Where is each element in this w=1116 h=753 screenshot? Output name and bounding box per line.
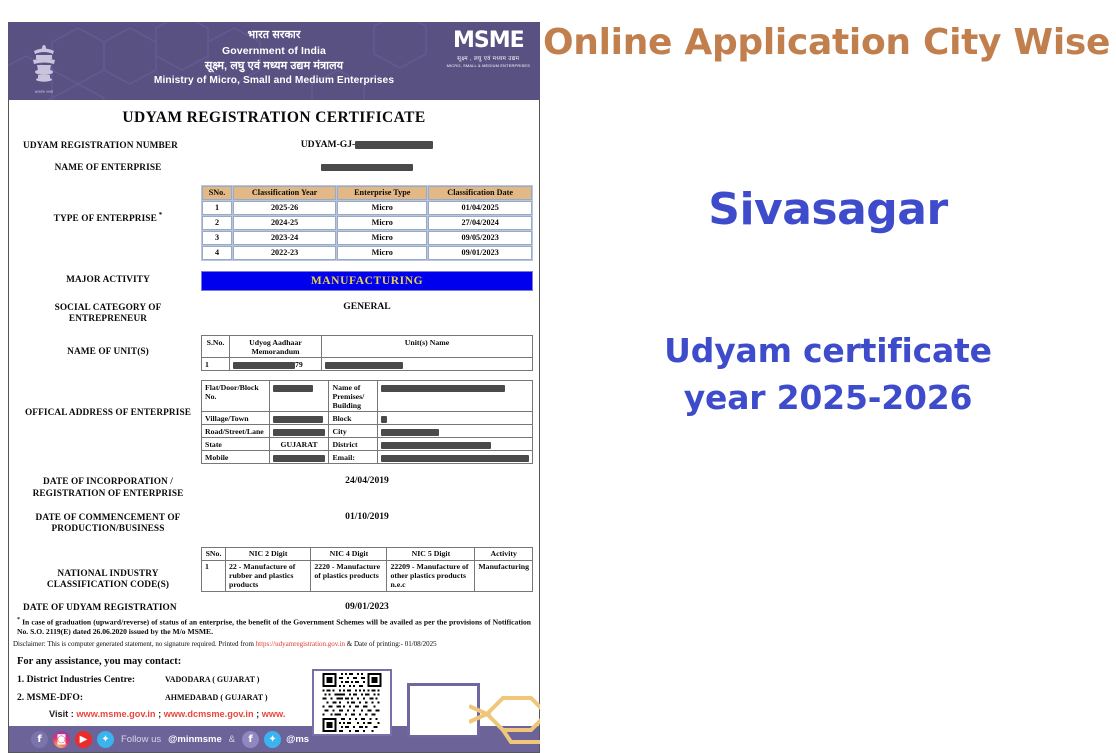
table-row: 1 22 - Manufacture of rubber and plastic… [202, 560, 533, 591]
msme-logo-mark: MSME [447, 30, 530, 52]
cell-sno: 3 [202, 231, 232, 245]
cell-uam-tail: 79 [295, 360, 303, 369]
table-row: Flat/Door/Block No. Name of Premises/ Bu… [202, 381, 533, 412]
addr-value-district [378, 438, 533, 451]
major-activity-label: MAJOR ACTIVITY [15, 271, 201, 286]
table-row: 3 2023-24 Micro 09/05/2023 [202, 231, 532, 245]
col-uam: Udyog Aadhaar Memorandum [230, 336, 322, 358]
promo-city-name: Sivasagar [540, 184, 1116, 235]
addr-value-city [378, 425, 533, 438]
date-commencement-row: DATE OF COMMENCEMENT OFPRODUCTION/BUSINE… [9, 511, 539, 536]
visit-sep-1: ; [156, 709, 164, 719]
redacted-uam [233, 362, 295, 369]
cell-year: 2022-23 [233, 246, 336, 260]
date-commencement-value: 01/10/2019 [201, 511, 533, 522]
asterisk-marker: * [17, 617, 20, 623]
date-udyam-registration-value: 09/01/2023 [201, 601, 533, 612]
social-category-label: SOCIAL CATEGORY OFENTREPRENEUR [15, 301, 201, 326]
follow-us-text: Follow us [121, 734, 161, 745]
name-of-units-row: NAME OF UNIT(S) S.No. Udyog Aadhaar Memo… [9, 335, 539, 371]
addr-label-email: Email: [329, 451, 378, 464]
table-row: Mobile Email: [202, 451, 533, 464]
addr-value-mobile [269, 451, 329, 464]
qr-code-pattern [316, 673, 388, 732]
redacted-premises [381, 385, 505, 392]
enterprise-name-value [201, 161, 533, 172]
addr-label-state: State [202, 438, 270, 451]
table-row: State GUJARAT District [202, 438, 533, 451]
addr-label-road: Road/Street/Lane [202, 425, 270, 438]
promo-title: Online Application City Wise [543, 22, 1116, 63]
cell-nic5: 22209 - Manufacture of other plastics pr… [387, 560, 475, 591]
redacted-city [381, 429, 439, 436]
addr-label-city: City [329, 425, 378, 438]
major-activity-banner: MANUFACTURING [201, 271, 533, 291]
nic-table: SNo. NIC 2 Digit NIC 4 Digit NIC 5 Digit… [201, 547, 533, 592]
contact-dic: 1. District Industries Centre: VADODARA … [9, 667, 539, 685]
facebook-icon[interactable]: f [31, 731, 48, 748]
col-enterprise-type: Enterprise Type [337, 186, 427, 200]
col-nic5: NIC 5 Digit [387, 547, 475, 560]
udyam-number-prefix: UDYAM-GJ- [301, 139, 356, 150]
redacted-unit-name [325, 362, 403, 369]
addr-label-district: District [329, 438, 378, 451]
hexagon-decoration-bottom [469, 684, 543, 744]
date-udyam-registration-label: DATE OF UDYAM REGISTRATION [15, 601, 201, 614]
col-classification-year: Classification Year [233, 186, 336, 200]
redacted-email [381, 455, 529, 462]
units-table: S.No. Udyog Aadhaar Memorandum Unit(s) N… [201, 335, 533, 371]
graduation-footnote: * In case of graduation (upward/reverse)… [9, 614, 539, 637]
msme-logo-hindi: सूक्ष्म , लघु एवं मध्यम उद्यम [447, 54, 530, 62]
table-header-row: SNo. NIC 2 Digit NIC 4 Digit NIC 5 Digit… [202, 547, 533, 560]
date-commencement-label: DATE OF COMMENCEMENT OFPRODUCTION/BUSINE… [15, 511, 201, 536]
disclaimer-suffix: & Date of printing:- 01/08/2025 [345, 640, 437, 648]
addr-label-premises: Name of Premises/ Building [329, 381, 378, 412]
type-of-enterprise-label: TYPE OF ENTERPRISE * [15, 185, 201, 225]
cell-nic2: 22 - Manufacture of rubber and plastics … [226, 560, 311, 591]
qr-code [312, 669, 392, 736]
visit-url-third[interactable]: www. [262, 709, 286, 719]
assistance-heading: For any assistance, you may contact: [9, 649, 539, 667]
cell-type: Micro [337, 231, 427, 245]
certificate-body: UDYAM REGISTRATION CERTIFICATE UDYAM REG… [8, 100, 540, 753]
major-activity-row: MAJOR ACTIVITY MANUFACTURING [9, 271, 539, 291]
cell-sno: 2 [202, 216, 232, 230]
cell-sno: 1 [202, 358, 230, 371]
addr-value-flat [269, 381, 329, 412]
ampersand-text: & [229, 734, 235, 745]
redacted-enterprise-name [321, 164, 413, 171]
udyam-number-row: UDYAM REGISTRATION NUMBER UDYAM-GJ- [9, 139, 539, 152]
cell-year: 2023-24 [233, 231, 336, 245]
enterprise-name-label: NAME OF ENTERPRISE [15, 161, 201, 174]
redacted-udyam-number [355, 141, 433, 149]
graduation-footnote-text: In case of graduation (upward/reverse) o… [17, 617, 531, 636]
contact-dic-value: VADODARA ( GUJARAT ) [165, 674, 259, 685]
table-row: 1 79 [202, 358, 533, 371]
cell-sno: 4 [202, 246, 232, 260]
addr-value-road [269, 425, 329, 438]
contact-dic-label: 1. District Industries Centre: [17, 674, 165, 685]
addr-label-flat: Flat/Door/Block No. [202, 381, 270, 412]
promo-subtitle-line2: year 2025-2026 [540, 375, 1116, 422]
cell-year: 2024-25 [233, 216, 336, 230]
col-sno: S.No. [202, 336, 230, 358]
addr-label-block: Block [329, 412, 378, 425]
nic-code-label: NATIONAL INDUSTRYCLASSIFICATION CODE(S) [15, 547, 201, 592]
col-unit-name: Unit(s) Name [322, 336, 533, 358]
address-table: Flat/Door/Block No. Name of Premises/ Bu… [201, 380, 533, 464]
enterprise-name-row: NAME OF ENTERPRISE [9, 161, 539, 174]
contact-dfo-value: AHMEDABAD ( GUJARAT ) [165, 692, 268, 703]
cell-type: Micro [337, 201, 427, 215]
type-of-enterprise-row: TYPE OF ENTERPRISE * SNo. Classification… [9, 185, 539, 261]
col-nic4: NIC 4 Digit [311, 547, 387, 560]
addr-value-email [378, 451, 533, 464]
promo-subtitle-line1: Udyam certificate [540, 328, 1116, 375]
facebook-icon-2[interactable]: f [242, 731, 259, 748]
cell-date: 27/04/2024 [428, 216, 532, 230]
addr-value-state: GUJARAT [269, 438, 329, 451]
date-incorporation-row: DATE OF INCORPORATION /REGISTRATION OF E… [9, 475, 539, 500]
ministry-english: Ministry of Micro, Small and Medium Ente… [8, 74, 540, 88]
type-of-enterprise-table-wrap: SNo. Classification Year Enterprise Type… [201, 185, 533, 261]
msme-logo-english: MICRO, SMALL & MEDIUM ENTERPRISES [447, 63, 530, 68]
cell-unit-name [322, 358, 533, 371]
table-row: Road/Street/Lane City [202, 425, 533, 438]
twitter-icon-2[interactable]: ✦ [264, 731, 281, 748]
cell-year: 2025-26 [233, 201, 336, 215]
visit-url-msme[interactable]: www.msme.gov.in [76, 709, 155, 719]
table-header-row: S.No. Udyog Aadhaar Memorandum Unit(s) N… [202, 336, 533, 358]
redacted-road [273, 429, 325, 436]
cell-date: 09/05/2023 [428, 231, 532, 245]
disclaimer-prefix: Disclaimer: This is computer generated s… [13, 640, 256, 648]
name-of-units-label: NAME OF UNIT(S) [15, 335, 201, 358]
redacted-block [381, 416, 387, 423]
visit-prefix: Visit : [49, 709, 76, 719]
date-incorporation-label: DATE OF INCORPORATION /REGISTRATION OF E… [15, 475, 201, 500]
addr-value-premises [378, 381, 533, 412]
cell-type: Micro [337, 246, 427, 260]
nic-table-wrap: SNo. NIC 2 Digit NIC 4 Digit NIC 5 Digit… [201, 547, 533, 592]
date-incorporation-value: 24/04/2019 [201, 475, 533, 486]
cell-type: Micro [337, 216, 427, 230]
visit-sep-2: ; [254, 709, 262, 719]
major-activity-value-wrap: MANUFACTURING [201, 271, 533, 291]
udyam-number-value: UDYAM-GJ- [201, 139, 533, 150]
certificate-header-banner: सत्यमेव जयते भारत सरकार Government of In… [8, 22, 540, 100]
table-row: Village/Town Block [202, 412, 533, 425]
official-address-row: OFFICAL ADDRESS OF ENTERPRISE Flat/Door/… [9, 380, 539, 464]
udyam-number-label: UDYAM REGISTRATION NUMBER [15, 139, 201, 152]
social-category-value: GENERAL [201, 301, 533, 312]
contact-dfo-label: 2. MSME-DFO: [17, 692, 165, 703]
table-row: 2 2024-25 Micro 27/04/2024 [202, 216, 532, 230]
classification-table: SNo. Classification Year Enterprise Type… [201, 185, 533, 261]
table-row: 1 2025-26 Micro 01/04/2025 [202, 201, 532, 215]
redacted-mobile [273, 455, 325, 462]
certificate-title: UDYAM REGISTRATION CERTIFICATE [9, 100, 539, 137]
disclaimer-link[interactable]: https://udyamregistration.gov.in [256, 640, 345, 648]
address-table-wrap: Flat/Door/Block No. Name of Premises/ Bu… [201, 380, 533, 464]
disclaimer-line: Disclaimer: This is computer generated s… [9, 637, 539, 648]
redacted-district [381, 442, 491, 449]
cell-sno: 1 [202, 560, 226, 591]
visit-url-dcmsme[interactable]: www.dcmsme.gov.in [164, 709, 254, 719]
redacted-village [273, 416, 323, 423]
date-udyam-registration-row: DATE OF UDYAM REGISTRATION 09/01/2023 [9, 601, 539, 614]
emblem-caption: सत्यमेव जयते [35, 89, 53, 94]
addr-label-village: Village/Town [202, 412, 270, 425]
addr-value-block [378, 412, 533, 425]
cell-uam: 79 [230, 358, 322, 371]
handle-msme[interactable]: @ms [286, 734, 309, 745]
official-address-label: OFFICAL ADDRESS OF ENTERPRISE [15, 380, 201, 419]
cell-sno: 1 [202, 201, 232, 215]
twitter-icon[interactable]: ✦ [97, 731, 114, 748]
nic-code-row: NATIONAL INDUSTRYCLASSIFICATION CODE(S) … [9, 547, 539, 592]
hexagon-outline-icon [469, 684, 543, 744]
addr-value-village [269, 412, 329, 425]
cell-date: 09/01/2023 [428, 246, 532, 260]
asterisk-marker: * [157, 211, 162, 219]
udyam-certificate-image: सत्यमेव जयते भारत सरकार Government of In… [8, 22, 540, 753]
promo-panel: Online Application City Wise Sivasagar U… [540, 0, 1116, 753]
social-category-row: SOCIAL CATEGORY OFENTREPRENEUR GENERAL [9, 301, 539, 326]
instagram-icon[interactable]: ◙ [53, 731, 70, 748]
table-row: 4 2022-23 Micro 09/01/2023 [202, 246, 532, 260]
youtube-icon[interactable]: ▶ [75, 731, 92, 748]
handle-minmsme[interactable]: @minmsme [168, 734, 222, 745]
units-table-wrap: S.No. Udyog Aadhaar Memorandum Unit(s) N… [201, 335, 533, 371]
col-classification-date: Classification Date [428, 186, 532, 200]
table-header-row: SNo. Classification Year Enterprise Type… [202, 186, 532, 200]
cell-date: 01/04/2025 [428, 201, 532, 215]
promo-subtitle: Udyam certificate year 2025-2026 [540, 328, 1116, 422]
redacted-flat [273, 385, 313, 392]
addr-label-mobile: Mobile [202, 451, 270, 464]
col-activity: Activity [475, 547, 533, 560]
page-root: सत्यमेव जयते भारत सरकार Government of In… [0, 0, 1116, 753]
col-nic2: NIC 2 Digit [226, 547, 311, 560]
col-sno: SNo. [202, 547, 226, 560]
msme-logo: MSME सूक्ष्म , लघु एवं मध्यम उद्यम MICRO… [447, 30, 530, 68]
cell-activity: Manufacturing [475, 560, 533, 591]
col-sno: SNo. [202, 186, 232, 200]
cell-nic4: 2220 - Manufacture of plastics products [311, 560, 387, 591]
